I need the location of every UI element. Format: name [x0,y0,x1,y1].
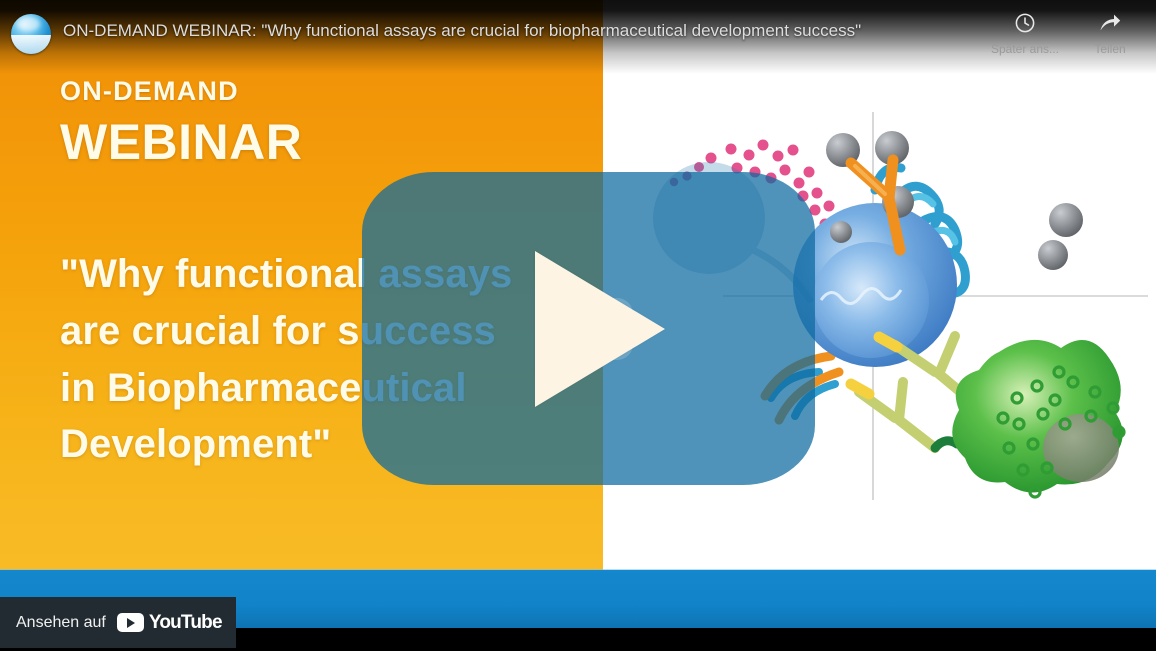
play-triangle-icon [535,251,665,407]
watch-on-youtube-button[interactable]: Ansehen auf YouTube [0,597,236,648]
share-button[interactable]: Teilen [1070,10,1150,56]
watch-on-prefix-label: Ansehen auf [16,614,106,632]
player-top-bar: ON-DEMAND WEBINAR: "Why functional assay… [0,0,1156,62]
play-button[interactable] [362,172,815,485]
thumbnail-heading-block: ON-DEMAND WEBINAR [60,78,620,168]
thumbnail-headline: WEBINAR [60,116,620,168]
watch-later-button[interactable]: Später ans... [985,10,1065,56]
watch-later-label: Später ans... [991,42,1059,56]
share-label: Teilen [1094,42,1125,56]
avatar-gloss [17,17,39,31]
youtube-wordmark: YouTube [149,613,222,632]
avatar-band [11,35,51,54]
clock-icon [1014,10,1036,36]
youtube-play-icon [117,613,144,632]
thumbnail-eyebrow: ON-DEMAND [60,78,620,105]
share-arrow-icon [1098,10,1122,36]
video-title[interactable]: ON-DEMAND WEBINAR: "Why functional assay… [63,19,963,43]
youtube-embed-player[interactable]: ON-DEMAND WEBINAR "Why functional assays… [0,0,1156,651]
youtube-logo: YouTube [117,613,222,632]
channel-avatar[interactable] [11,14,51,54]
